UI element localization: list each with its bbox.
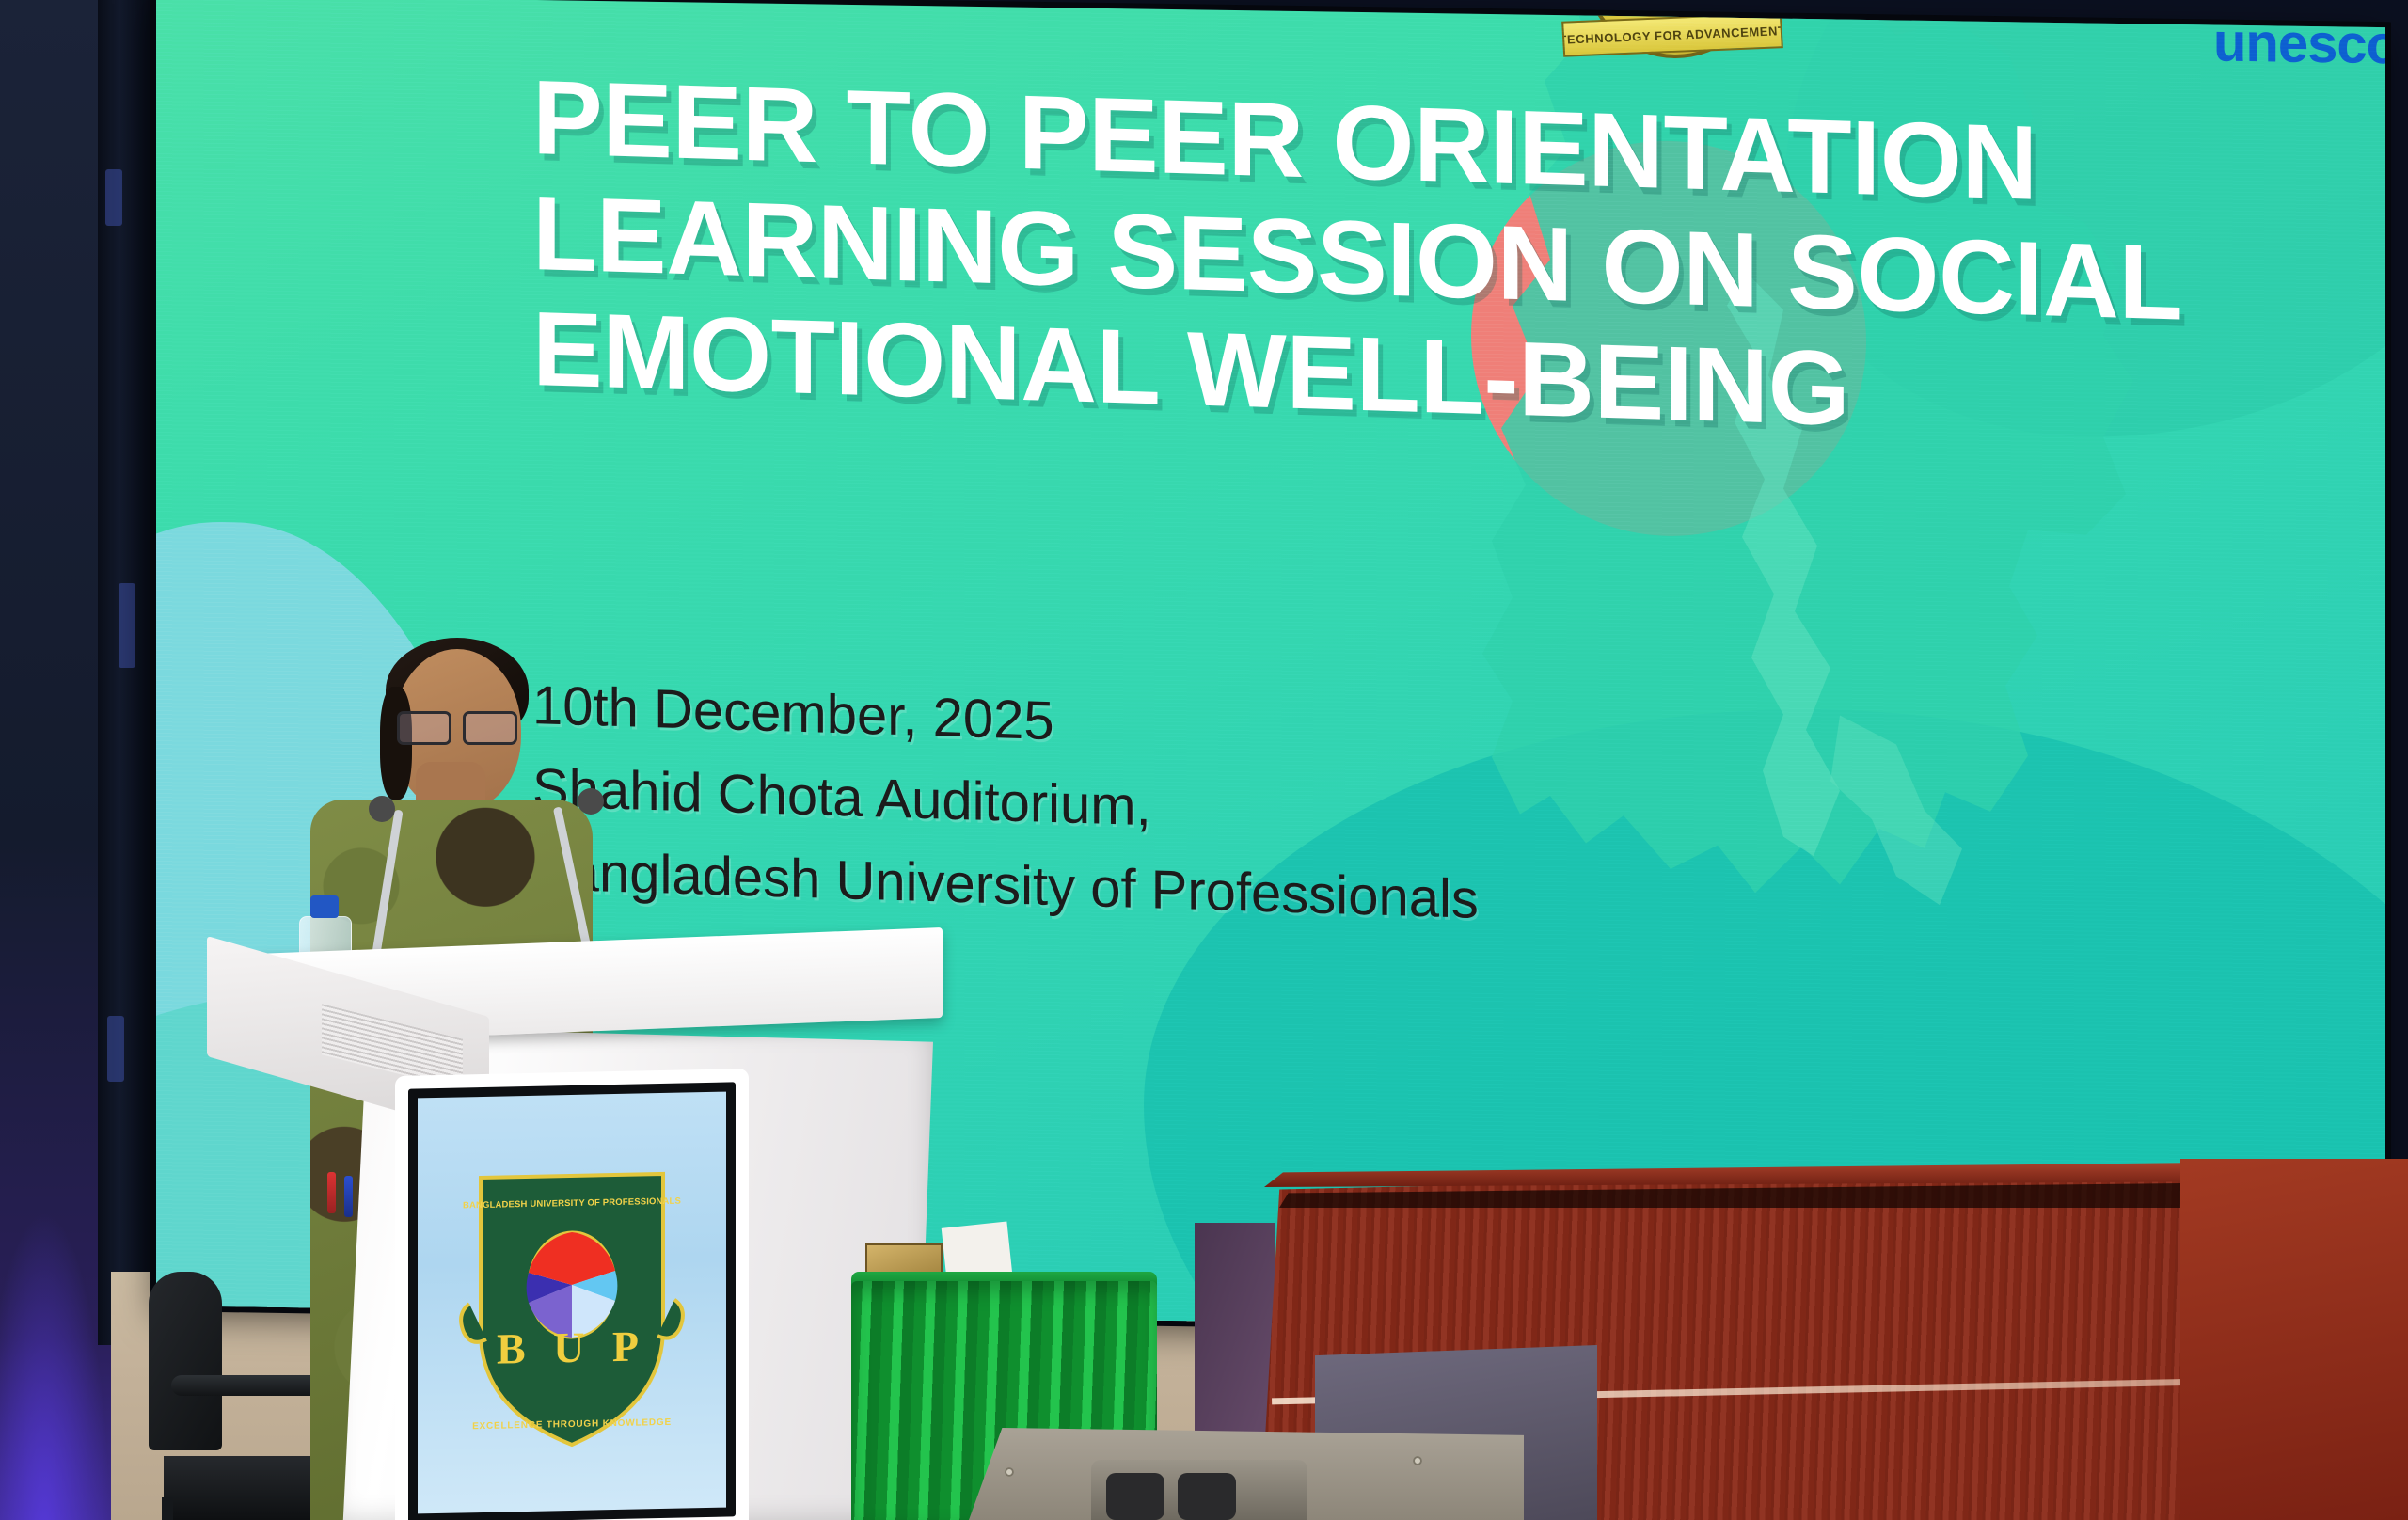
emblem-upper-ribbon: BANGLADESH: [1594, 0, 1751, 11]
emblem-lower-ribbon: TECHNOLOGY FOR ADVANCEMENT: [1561, 12, 1783, 57]
stage-photo: BANGLADESH TECHNOLOGY FOR ADVANCEMENT un…: [0, 0, 2408, 1520]
podium: BANGLADESH UNIVERSITY OF PROFESSIONALS B…: [199, 941, 952, 1520]
backdrop-subtitle: 10th December, 2025 Shahid Chota Auditor…: [532, 664, 1943, 956]
bangladesh-technology-emblem: BANGLADESH TECHNOLOGY FOR ADVANCEMENT: [1562, 0, 1779, 73]
monitor-screw-left: [1005, 1467, 1014, 1477]
monitor-port-right: [1178, 1473, 1236, 1520]
backdrop-headline: PEER TO PEER ORIENTATION LEARNING SESSIO…: [532, 59, 2320, 462]
unesco-blue-box: [2211, 0, 2385, 17]
podium-display: BANGLADESH UNIVERSITY OF PROFESSIONALS B…: [408, 1082, 736, 1520]
eyeglasses: [397, 711, 517, 739]
monitor-screw-right: [1413, 1456, 1422, 1465]
monitor-port-left: [1106, 1473, 1164, 1520]
stage-light-glow: [0, 1210, 111, 1520]
crest-shield-icon: [454, 1167, 689, 1454]
microphone-head-right: [578, 788, 604, 815]
wooden-panel-right: [2180, 1159, 2408, 1520]
crest-initials: B U P: [454, 1320, 689, 1374]
unesco-wordmark: unesco: [2213, 15, 2385, 73]
truss-column: [98, 0, 160, 1345]
unesco-logo: unesco: [2211, 0, 2385, 92]
bup-crest: BANGLADESH UNIVERSITY OF PROFESSIONALS B…: [454, 1167, 689, 1454]
microphone-head-left: [369, 796, 395, 822]
bottle-cap: [310, 895, 339, 918]
unesco-temple-icon: [2268, 0, 2369, 1]
